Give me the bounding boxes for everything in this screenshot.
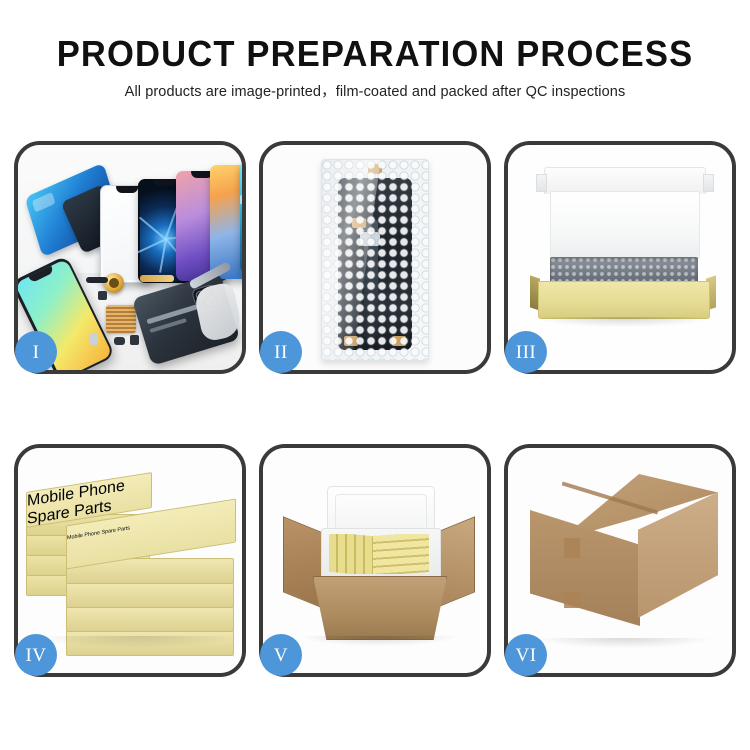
connector-grid-part-icon — [106, 305, 136, 333]
process-step-panel-3: III — [504, 141, 736, 374]
small-part-icon — [86, 277, 108, 283]
retail-box-stack: Mobile Phone Spare Parts Mobi — [26, 474, 236, 660]
foam-sheet — [550, 191, 700, 259]
product-preparation-infographic: PRODUCT PREPARATION PROCESS All products… — [0, 0, 750, 750]
step-badge-3: III — [505, 331, 547, 373]
sim-tray-part-icon — [90, 333, 98, 345]
process-step-panel-5: V — [259, 444, 491, 677]
step-2-illustration — [263, 145, 487, 370]
process-step-panel-1: I — [14, 141, 246, 374]
bubble-wrap-bag-icon — [321, 159, 429, 361]
drop-shadow — [301, 636, 457, 646]
box-lid — [544, 167, 706, 194]
process-step-panel-6: VI — [504, 444, 736, 677]
sealed-carton-icon — [530, 474, 718, 644]
open-carton-icon — [283, 472, 475, 650]
box-label-text: Mobile Phone Spare Parts — [67, 525, 130, 541]
phone-screen-teal-icon — [240, 161, 242, 273]
step-badge-5: V — [260, 634, 302, 676]
header: PRODUCT PREPARATION PROCESS All products… — [0, 34, 750, 101]
process-step-panel-4: Mobile Phone Spare Parts Mobi — [14, 444, 246, 677]
process-step-grid: I II — [14, 141, 736, 677]
small-part-icon — [130, 335, 139, 345]
step-badge-1: I — [15, 331, 57, 373]
carton-body — [313, 576, 447, 640]
step-4-illustration: Mobile Phone Spare Parts Mobi — [18, 448, 242, 673]
page-subtitle: All products are image-printed，film-coat… — [0, 83, 750, 101]
carton-tape-lower — [564, 592, 580, 608]
process-step-panel-2: II — [259, 141, 491, 374]
drop-shadow — [536, 638, 712, 648]
yellow-boxes-right — [373, 534, 429, 574]
front-box-stack: Mobile Phone Spare Parts — [66, 512, 234, 656]
step-5-illustration — [263, 448, 487, 673]
carton-tape-upper — [564, 538, 580, 558]
carton-left-face — [530, 510, 640, 626]
open-inner-box-icon — [530, 167, 716, 341]
yellow-boxes-left — [329, 534, 373, 574]
flex-cable-part-icon — [140, 275, 174, 282]
small-part-icon — [98, 291, 107, 300]
small-part-icon — [114, 337, 125, 345]
step-badge-4: IV — [15, 634, 57, 676]
step-badge-6: VI — [505, 634, 547, 676]
step-3-illustration — [508, 145, 732, 370]
page-title: PRODUCT PREPARATION PROCESS — [15, 34, 735, 74]
camera-module-part-icon — [104, 273, 124, 293]
step-1-illustration — [18, 145, 242, 370]
drop-shadow — [534, 317, 712, 327]
yellow-boxes-group — [329, 534, 429, 574]
step-badge-2: II — [260, 331, 302, 373]
box-front-face — [538, 281, 710, 319]
step-6-illustration — [508, 448, 732, 673]
drop-shadow — [40, 636, 236, 648]
